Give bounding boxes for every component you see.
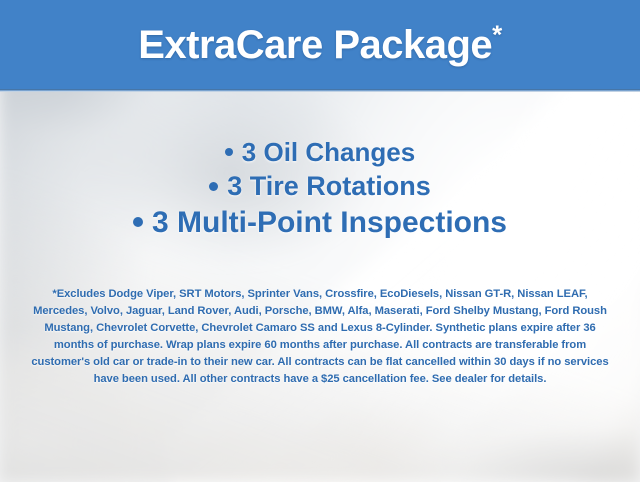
benefit-item-multi-point-inspections: 3 Multi-Point Inspections	[0, 204, 640, 242]
disclaimer-text: *Excludes Dodge Viper, SRT Motors, Sprin…	[24, 286, 616, 388]
benefit-item-tire-rotations: 3 Tire Rotations	[0, 169, 640, 203]
bullet-dot-icon	[133, 217, 143, 227]
benefit-item-oil-changes: 3 Oil Changes	[0, 136, 640, 169]
benefit-item-label: 3 Multi-Point Inspections	[152, 206, 507, 239]
benefit-item-label: 3 Tire Rotations	[227, 171, 431, 201]
page-title-asterisk: *	[492, 19, 502, 49]
page-title: ExtraCare Package*	[138, 25, 502, 65]
benefits-list: 3 Oil Changes 3 Tire Rotations 3 Multi-P…	[0, 136, 640, 241]
benefit-item-label: 3 Oil Changes	[242, 137, 415, 167]
header-band: ExtraCare Package*	[0, 0, 640, 89]
extracare-promo-card: ExtraCare Package* 3 Oil Changes 3 Tire …	[0, 0, 640, 482]
page-title-text: ExtraCare Package	[138, 23, 492, 67]
bullet-dot-icon	[225, 148, 233, 156]
header-underline-divider	[0, 89, 640, 92]
bullet-dot-icon	[209, 182, 218, 191]
